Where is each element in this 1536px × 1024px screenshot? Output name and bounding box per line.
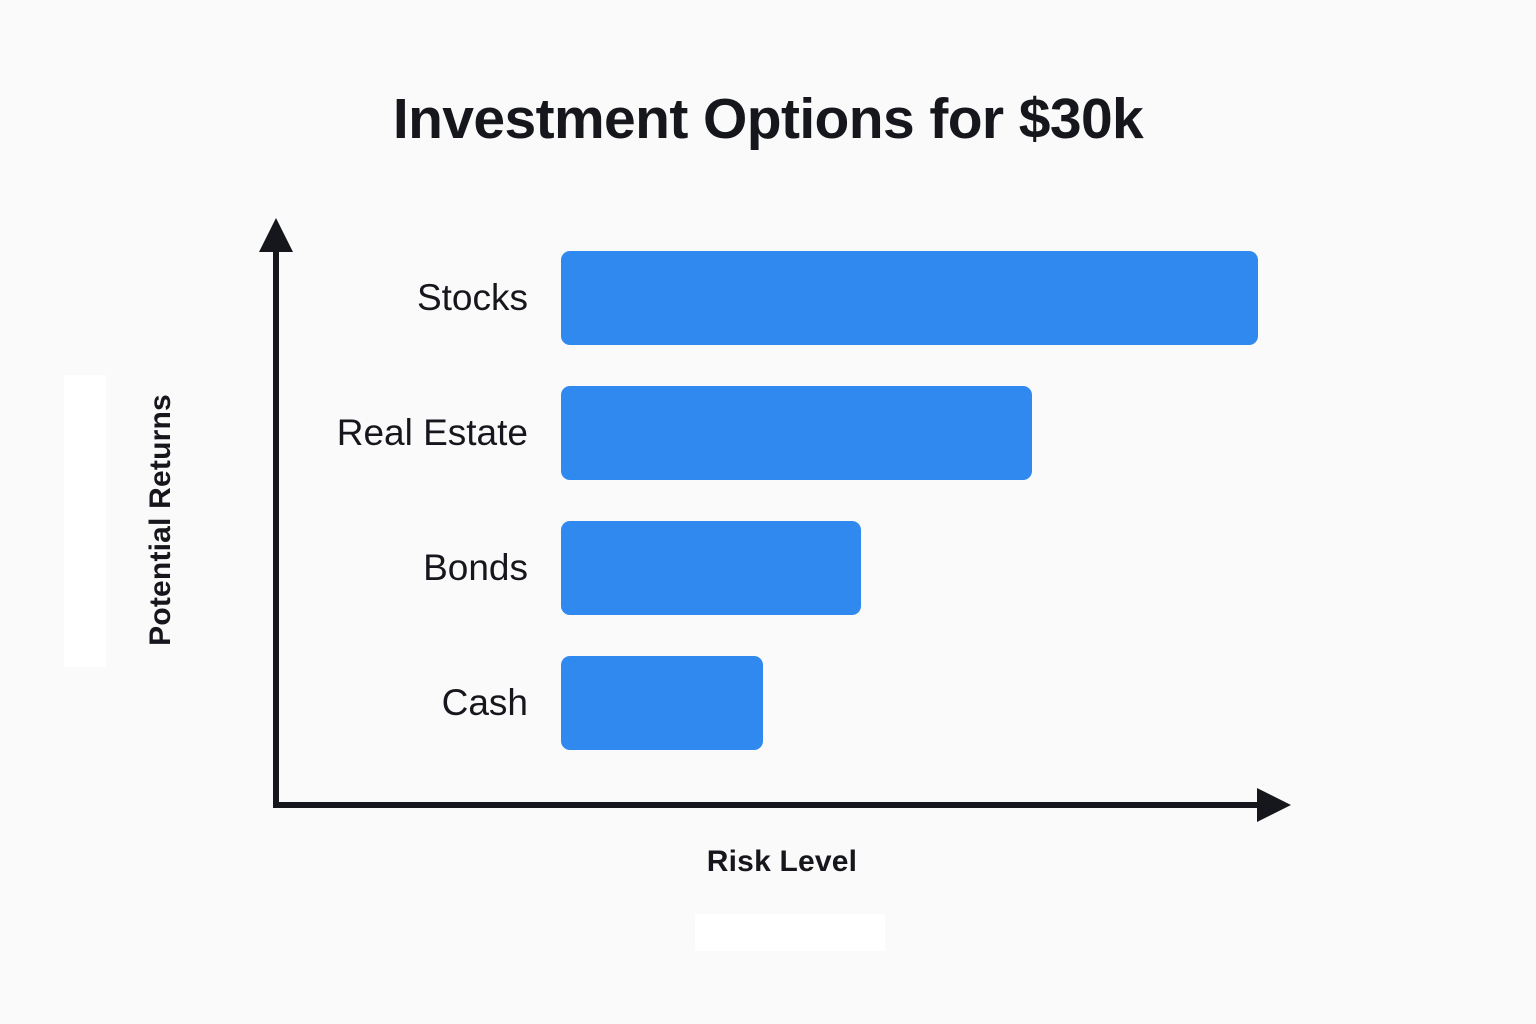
bar-category-label: Bonds xyxy=(180,521,528,615)
bar-real-estate[interactable] xyxy=(561,386,1032,480)
bar-bonds[interactable] xyxy=(561,521,861,615)
x-axis-arrow-icon xyxy=(1257,788,1291,822)
y-axis-arrow-icon xyxy=(259,218,293,252)
bar-category-label: Stocks xyxy=(180,251,528,345)
chart-canvas: Investment Options for $30k Potential Re… xyxy=(0,0,1536,1024)
bar-category-label: Real Estate xyxy=(180,386,528,480)
bar-stocks[interactable] xyxy=(561,251,1258,345)
bar-cash[interactable] xyxy=(561,656,763,750)
bar-category-label: Cash xyxy=(180,656,528,750)
x-axis-label: Risk Level xyxy=(582,845,982,879)
plot-area: Potential Returns Risk Level Stocks Real… xyxy=(0,0,1536,1024)
